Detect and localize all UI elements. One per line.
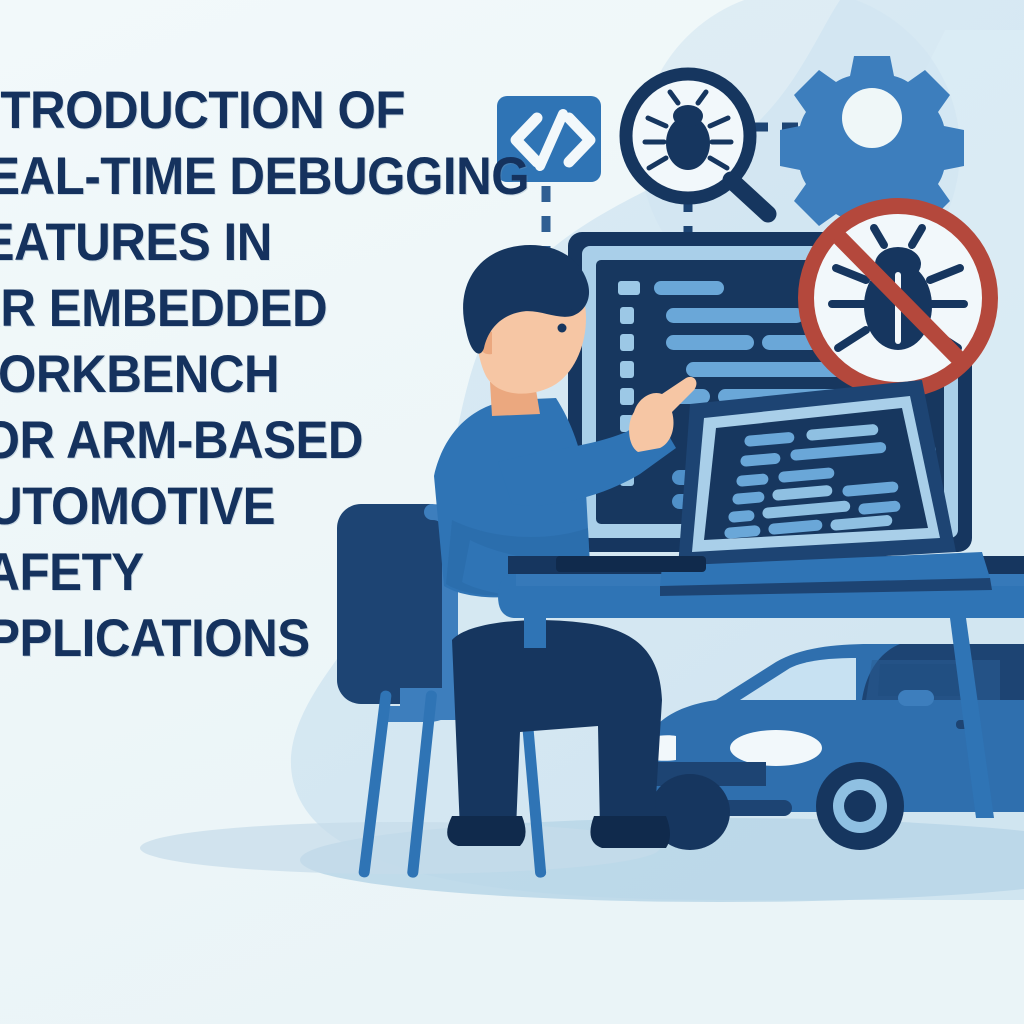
person-shoe-back [447,816,525,846]
keyboard [556,556,706,572]
code-icon [497,96,601,182]
scene-artwork [0,0,1024,1024]
ground-shadow-left [140,822,660,874]
illustration-canvas: INTRODUCTION OF REAL-TIME DEBUGGING FEAT… [0,0,1024,1024]
desk-leg-left [524,618,546,648]
no-bug-icon [806,206,990,390]
person-shoe-front [590,816,670,848]
person-eye [558,324,567,333]
